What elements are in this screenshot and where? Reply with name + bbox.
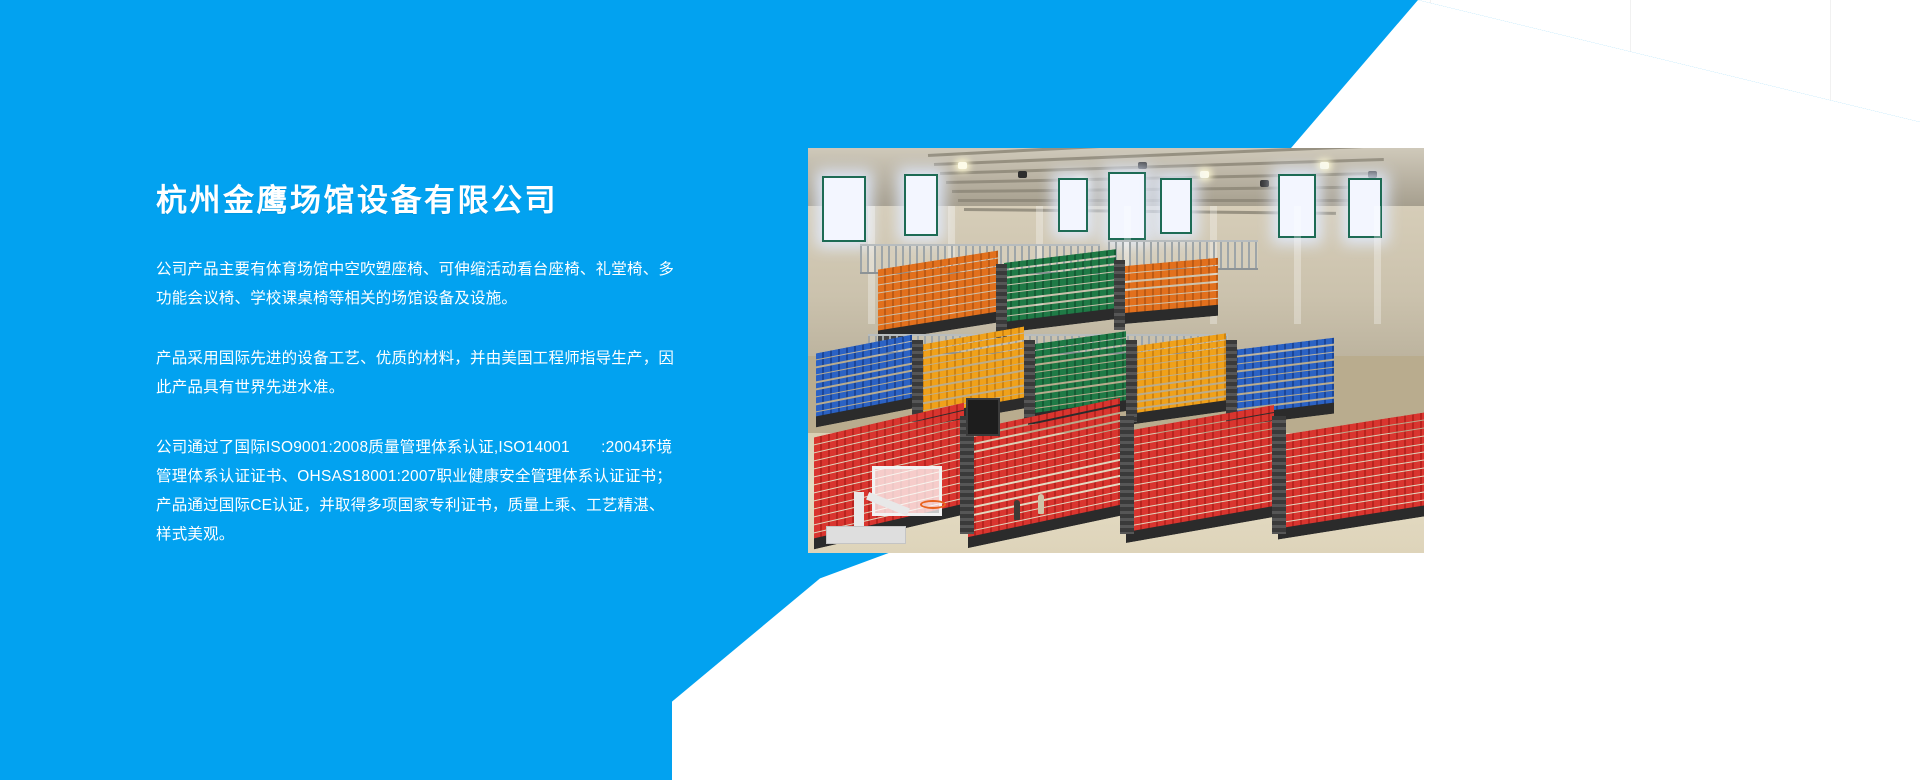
banner-copy-column: 杭州金鹰场馆设备有限公司 公司产品主要有体育场馆中空吹塑座椅、可伸缩活动看台座椅… bbox=[156, 182, 676, 549]
arena-window bbox=[1058, 178, 1088, 232]
arena-window bbox=[904, 174, 938, 236]
scoreboard bbox=[966, 398, 1000, 436]
grandstand-side-panel bbox=[1272, 416, 1286, 534]
grandstand-side-panel bbox=[1120, 416, 1134, 534]
seating-bank-green-upper bbox=[1004, 249, 1116, 333]
intro-paragraph-products: 公司产品主要有体育场馆中空吹塑座椅、可伸缩活动看台座椅、礼堂椅、多功能会议椅、学… bbox=[156, 255, 676, 313]
arena-window bbox=[1160, 178, 1192, 234]
spectator-figure bbox=[1038, 494, 1044, 514]
aisle-stairs bbox=[1226, 340, 1237, 422]
aisle-stairs bbox=[1114, 260, 1125, 330]
aisle-stairs bbox=[996, 264, 1007, 338]
company-title: 杭州金鹰场馆设备有限公司 bbox=[156, 182, 676, 221]
aisle-stairs bbox=[912, 340, 923, 422]
ceiling-lamp bbox=[1138, 162, 1147, 169]
spectator-figure bbox=[1014, 500, 1020, 520]
ceiling-lamp bbox=[1200, 171, 1209, 178]
aisle-stairs bbox=[1024, 340, 1035, 422]
ceiling-lamp bbox=[1368, 171, 1377, 178]
intro-paragraph-technology: 产品采用国际先进的设备工艺、优质的材料，并由美国工程师指导生产，因此产品具有世界… bbox=[156, 344, 676, 402]
intro-paragraph-certifications: 公司通过了国际ISO9001:2008质量管理体系认证,ISO14001 :20… bbox=[156, 433, 676, 549]
hero-banner-stage: 杭州金鹰场馆设备有限公司 公司产品主要有体育场馆中空吹塑座椅、可伸缩活动看台座椅… bbox=[0, 0, 1920, 780]
ceiling-lamp bbox=[1260, 180, 1269, 187]
aisle-stairs bbox=[1126, 340, 1137, 422]
basketball-ring bbox=[920, 500, 946, 509]
hoop-base bbox=[826, 526, 906, 544]
gymnasium-photo-scene bbox=[808, 148, 1424, 553]
arena-window bbox=[822, 176, 866, 242]
ceiling-lamp bbox=[958, 162, 967, 169]
ceiling-lamp bbox=[1320, 162, 1329, 169]
seating-bank-yellow-mid-right bbox=[1130, 333, 1226, 424]
wall-pilaster bbox=[1374, 206, 1381, 324]
wall-pilaster bbox=[1294, 206, 1301, 324]
gymnasium-photo bbox=[808, 148, 1424, 553]
seating-bank-orange-upper-right bbox=[1122, 258, 1218, 324]
ceiling-lamp bbox=[1018, 171, 1027, 178]
